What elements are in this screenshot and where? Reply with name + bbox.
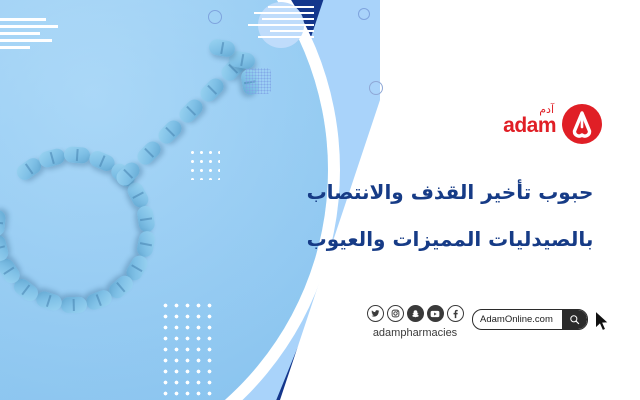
social-handle: adampharmacies bbox=[360, 327, 470, 339]
website-search-bar[interactable]: AdamOnline.com bbox=[472, 309, 588, 330]
adam-a-mark-icon bbox=[562, 104, 602, 144]
outline-circle-decoration-1 bbox=[208, 10, 222, 24]
top-left-stripes-decoration bbox=[0, 18, 60, 56]
top-circle-stripes-decoration bbox=[238, 6, 314, 46]
twitter-icon[interactable] bbox=[367, 305, 384, 322]
search-button[interactable] bbox=[562, 310, 587, 329]
facebook-icon[interactable] bbox=[447, 305, 464, 322]
search-icon bbox=[569, 314, 580, 325]
halftone-square-decoration bbox=[245, 68, 271, 94]
dot-grid-large bbox=[160, 300, 215, 400]
instagram-icon[interactable] bbox=[387, 305, 404, 322]
outline-circle-decoration-3 bbox=[369, 81, 383, 95]
outline-circle-decoration-2 bbox=[358, 8, 370, 20]
social-icons-row bbox=[360, 305, 470, 322]
social-block: adampharmacies bbox=[360, 305, 470, 339]
search-input[interactable]: AdamOnline.com bbox=[473, 314, 562, 325]
headline-line-2: بالصيدليات المميزات والعيوب bbox=[290, 227, 610, 252]
mouse-pointer-icon bbox=[594, 310, 611, 338]
pill bbox=[61, 297, 87, 314]
headline: حبوب تأخير القذف والانتصاب بالصيدليات ال… bbox=[290, 180, 610, 252]
banner-canvas: آدم adam حبوب تأخير القذف والانتصاب بالص… bbox=[0, 0, 640, 400]
snapchat-icon[interactable] bbox=[407, 305, 424, 322]
logo-latin-text: adam bbox=[503, 114, 556, 138]
pill bbox=[63, 146, 90, 164]
adam-logo[interactable]: آدم adam bbox=[488, 103, 598, 147]
headline-line-1: حبوب تأخير القذف والانتصاب bbox=[290, 180, 610, 205]
dot-grid-small bbox=[188, 148, 220, 180]
youtube-icon[interactable] bbox=[427, 305, 444, 322]
